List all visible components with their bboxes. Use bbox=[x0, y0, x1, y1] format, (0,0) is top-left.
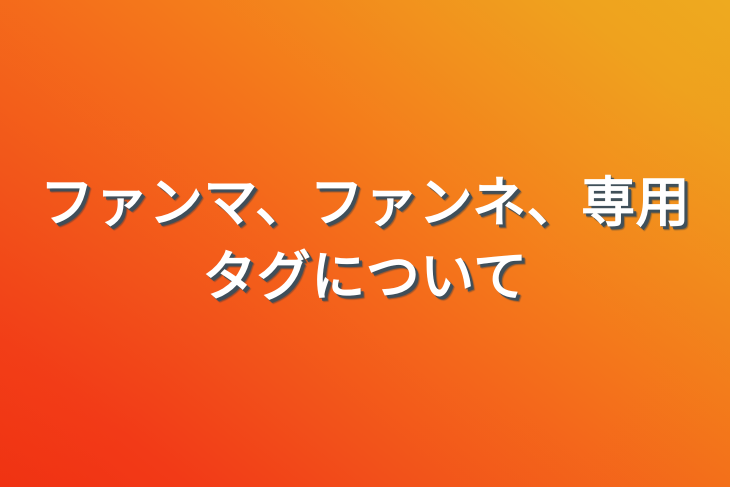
banner-title-block: ファンマ、ファンネ、専用 タグについて bbox=[0, 0, 730, 487]
banner-card: ファンマ、ファンネ、専用 タグについて bbox=[0, 0, 730, 487]
banner-title-line-1: ファンマ、ファンネ、専用 bbox=[0, 166, 730, 240]
banner-title-line-2: タグについて bbox=[0, 240, 730, 314]
